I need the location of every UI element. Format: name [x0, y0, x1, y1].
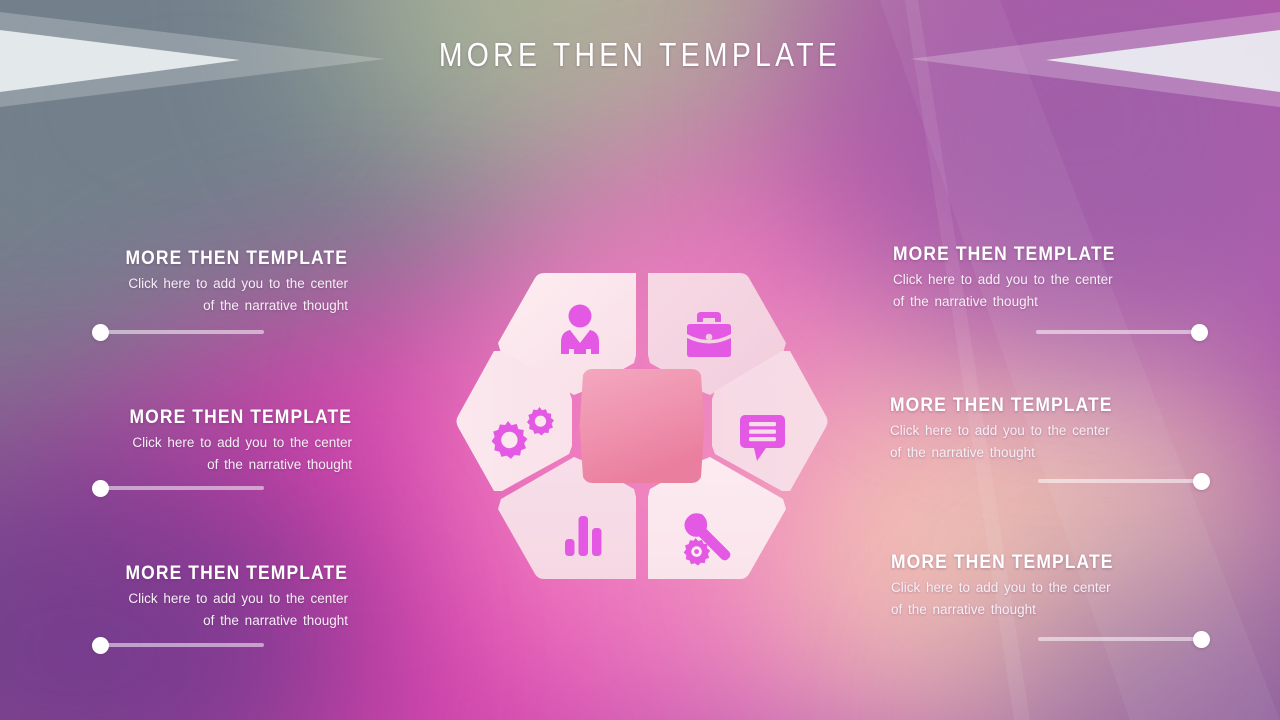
connector-right-2[interactable] [1038, 472, 1210, 490]
connector-line [107, 330, 264, 334]
connector-line [107, 486, 264, 490]
connector-left-3[interactable] [92, 636, 264, 654]
connector-left-1[interactable] [92, 323, 264, 341]
block-body: Click here to add you to the center of t… [891, 577, 1221, 621]
block-body-line1: Click here to add you to the center [18, 588, 348, 610]
block-heading: MORE THEN TEMPLATE [893, 243, 1197, 267]
connector-right-3[interactable] [1038, 630, 1210, 648]
text-block-left-2[interactable]: MORE THEN TEMPLATE Click here to add you… [22, 406, 352, 475]
text-block-left-3[interactable]: MORE THEN TEMPLATE Click here to add you… [18, 562, 348, 631]
slide-title: MORE THEN TEMPLATE [90, 36, 1191, 74]
wheel-center-hexagon[interactable] [580, 369, 705, 483]
block-heading: MORE THEN TEMPLATE [891, 551, 1195, 575]
block-heading: MORE THEN TEMPLATE [44, 247, 348, 271]
connector-line [1038, 479, 1195, 483]
block-body-line2: of the narrative thought [890, 442, 1220, 464]
connector-dot-icon [1191, 324, 1208, 341]
text-block-right-1[interactable]: MORE THEN TEMPLATE Click here to add you… [893, 243, 1223, 312]
block-body-line1: Click here to add you to the center [22, 432, 352, 454]
block-body: Click here to add you to the center of t… [22, 432, 352, 476]
block-body-line2: of the narrative thought [18, 610, 348, 632]
connector-line [1036, 330, 1193, 334]
block-body-line2: of the narrative thought [22, 454, 352, 476]
connector-right-1[interactable] [1036, 323, 1208, 341]
block-body-line1: Click here to add you to the center [893, 269, 1223, 291]
block-body: Click here to add you to the center of t… [18, 273, 348, 317]
block-heading: MORE THEN TEMPLATE [48, 406, 352, 430]
text-block-right-3[interactable]: MORE THEN TEMPLATE Click here to add you… [891, 551, 1221, 620]
block-body-line2: of the narrative thought [893, 291, 1223, 313]
block-body: Click here to add you to the center of t… [890, 420, 1220, 464]
block-heading: MORE THEN TEMPLATE [890, 394, 1194, 418]
connector-line [107, 643, 264, 647]
block-body-line2: of the narrative thought [891, 599, 1221, 621]
connector-left-2[interactable] [92, 479, 264, 497]
block-body-line1: Click here to add you to the center [18, 273, 348, 295]
block-heading: MORE THEN TEMPLATE [44, 562, 348, 586]
connector-line [1038, 637, 1195, 641]
block-body: Click here to add you to the center of t… [893, 269, 1223, 313]
block-body-line1: Click here to add you to the center [890, 420, 1220, 442]
connector-dot-icon [1193, 631, 1210, 648]
block-body: Click here to add you to the center of t… [18, 588, 348, 632]
hexagon-wheel-diagram [452, 255, 832, 605]
connector-dot-icon [1193, 473, 1210, 490]
text-block-right-2[interactable]: MORE THEN TEMPLATE Click here to add you… [890, 394, 1220, 463]
text-block-left-1[interactable]: MORE THEN TEMPLATE Click here to add you… [18, 247, 348, 316]
block-body-line1: Click here to add you to the center [891, 577, 1221, 599]
block-body-line2: of the narrative thought [18, 295, 348, 317]
